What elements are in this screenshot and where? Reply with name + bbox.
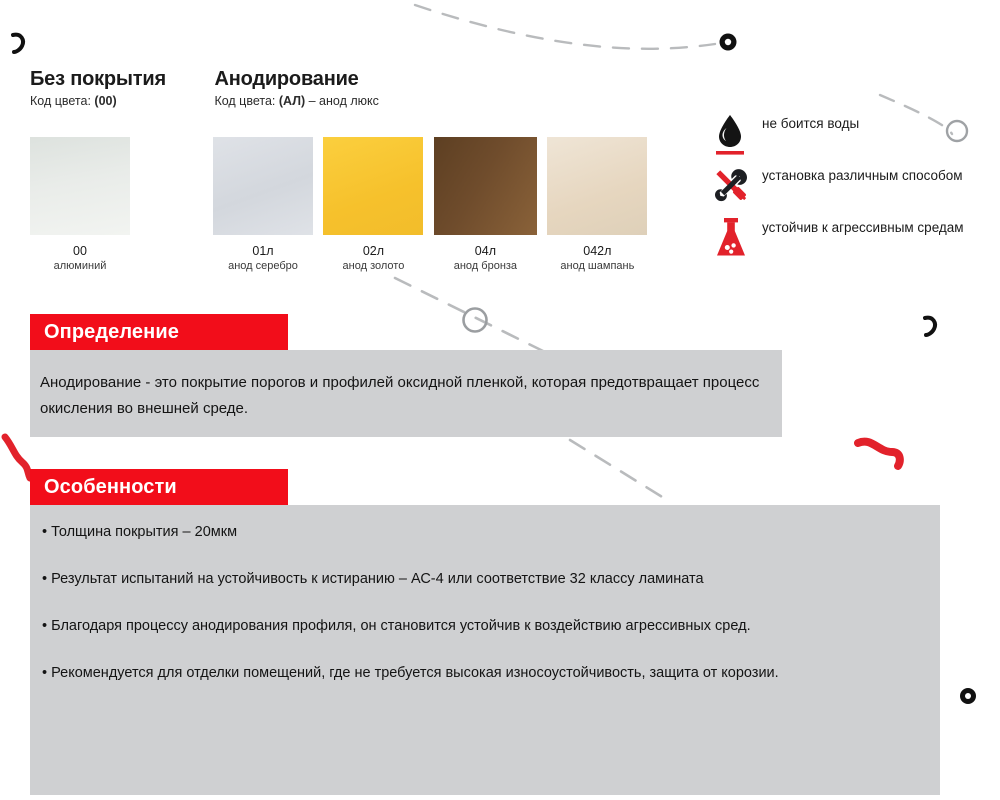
feature-waterproof: не боится воды — [710, 112, 990, 156]
swatch-chip-042l — [547, 137, 647, 235]
anodized-code: Код цвета: (АЛ) – анод люкс — [214, 94, 534, 108]
anodized-code-value: (АЛ) — [279, 94, 305, 108]
red-squiggle-right — [858, 442, 900, 466]
swatch-042l[interactable]: 042л анод шампань — [547, 137, 647, 273]
swatch-chip-04l — [434, 137, 537, 235]
dashed-diagonal-middle — [395, 278, 545, 352]
comma-mark-right — [925, 318, 935, 335]
headings-row: Без покрытия Код цвета: (00) Анодировани… — [30, 68, 534, 108]
swatch-02l[interactable]: 02л анод золото — [323, 137, 423, 273]
swatch-chip-01l — [213, 137, 313, 235]
features-banner: Особенности — [30, 469, 288, 505]
swatch-group-anodized: 01л анод серебро 02л анод золото 04л ано… — [213, 137, 647, 273]
feature-installation: установка различным способом — [710, 164, 990, 208]
dashed-curve-top — [415, 5, 715, 49]
infographic-page: Без покрытия Код цвета: (00) Анодировани… — [0, 0, 1000, 800]
chemical-flask-icon — [710, 216, 752, 260]
feature-chemical-resistance-label: устойчив к агрессивным средам — [762, 216, 990, 236]
feature-chemical-resistance: устойчив к агрессивным средам — [710, 216, 990, 260]
swatch-name-042l: анод шампань — [547, 260, 647, 273]
swatch-chip-02l — [323, 137, 423, 235]
uncoated-code-value: (00) — [94, 94, 116, 108]
ring-mark-top — [720, 34, 737, 51]
swatch-code-00: 00 — [30, 244, 130, 258]
swatch-name-04l: анод бронза — [434, 260, 537, 273]
swatch-name-02l: анод золото — [323, 260, 423, 273]
swatch-name-01l: анод серебро — [213, 260, 313, 273]
swatch-code-042l: 042л — [547, 244, 647, 258]
swatch-00[interactable]: 00 алюминий — [30, 137, 130, 273]
ring-mark-bottom-right — [960, 688, 976, 704]
feature-bullet: • Рекомендуется для отделки помещений, г… — [42, 661, 927, 686]
uncoated-code: Код цвета: (00) — [30, 94, 210, 108]
swatch-04l[interactable]: 04л анод бронза — [434, 137, 537, 273]
anodized-title: Анодирование — [214, 68, 534, 90]
column-anodized-heading: Анодирование Код цвета: (АЛ) – анод люкс — [214, 68, 534, 108]
uncoated-title: Без покрытия — [30, 68, 210, 90]
comma-mark-top-left — [13, 35, 23, 52]
swatch-code-04l: 04л — [434, 244, 537, 258]
anodized-code-label: Код цвета: — [214, 94, 275, 108]
feature-bullet: • Толщина покрытия – 20мкм — [42, 520, 927, 545]
swatch-group-uncoated: 00 алюминий — [30, 137, 130, 273]
feature-bullet: • Результат испытаний на устойчивость к … — [42, 567, 927, 592]
feature-bullet: • Благодаря процессу анодирования профил… — [42, 614, 927, 639]
swatch-code-01l: 01л — [213, 244, 313, 258]
deco-circle-middle — [464, 309, 487, 332]
swatch-code-02l: 02л — [323, 244, 423, 258]
tools-icon — [710, 164, 752, 208]
swatch-01l[interactable]: 01л анод серебро — [213, 137, 313, 273]
feature-icon-list: не боится воды — [710, 112, 990, 268]
swatch-chip-00 — [30, 137, 130, 235]
definition-text: Анодирование - это покрытие порогов и пр… — [40, 370, 770, 422]
uncoated-code-label: Код цвета: — [30, 94, 91, 108]
anodized-code-suffix: – анод люкс — [305, 94, 379, 108]
definition-banner: Определение — [30, 314, 288, 350]
water-drop-icon — [710, 112, 752, 156]
red-squiggle-left — [5, 437, 30, 478]
feature-waterproof-label: не боится воды — [762, 112, 990, 132]
features-bullet-list: • Толщина покрытия – 20мкм • Результат и… — [42, 520, 932, 686]
column-uncoated-heading: Без покрытия Код цвета: (00) — [30, 68, 210, 108]
swatch-name-00: алюминий — [30, 260, 130, 273]
feature-installation-label: установка различным способом — [762, 164, 990, 184]
dashed-diagonal-lower — [570, 440, 672, 503]
